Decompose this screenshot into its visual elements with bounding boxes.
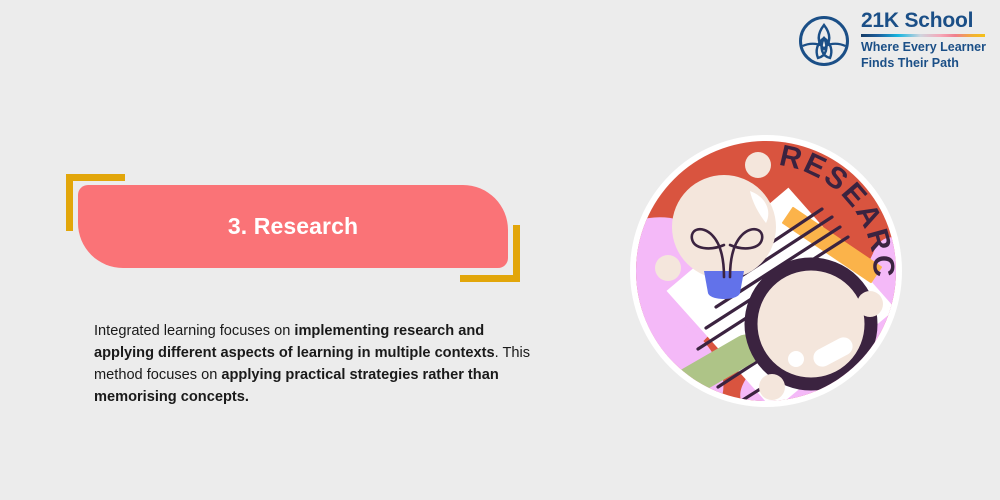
research-illustration: RESEARCH xyxy=(626,131,906,411)
decor-dot-2 xyxy=(655,255,681,281)
decor-dot-3 xyxy=(857,291,883,317)
section-banner: 3. Research xyxy=(60,170,525,285)
brand-tagline-line-2: Finds Their Path xyxy=(861,56,986,72)
decor-dot-1 xyxy=(745,152,771,178)
brand-logo: 21K School Where Every Learner Finds The… xyxy=(798,10,986,71)
brand-gradient-rule xyxy=(861,34,985,37)
page-title: 3. Research xyxy=(228,213,358,240)
brand-text-block: 21K School Where Every Learner Finds The… xyxy=(861,10,986,71)
brand-tagline-line-1: Where Every Learner xyxy=(861,40,986,56)
magnifier-icon xyxy=(751,264,871,384)
body-paragraph: Integrated learning focuses on implement… xyxy=(94,320,544,409)
brand-tagline: Where Every Learner Finds Their Path xyxy=(861,40,986,71)
body-segment-0: Integrated learning focuses on xyxy=(94,323,294,339)
lotus-circle-logo-icon xyxy=(798,15,850,67)
decor-dot-4 xyxy=(759,374,785,400)
banner-pill: 3. Research xyxy=(78,185,508,268)
brand-name: 21K School xyxy=(861,10,973,32)
